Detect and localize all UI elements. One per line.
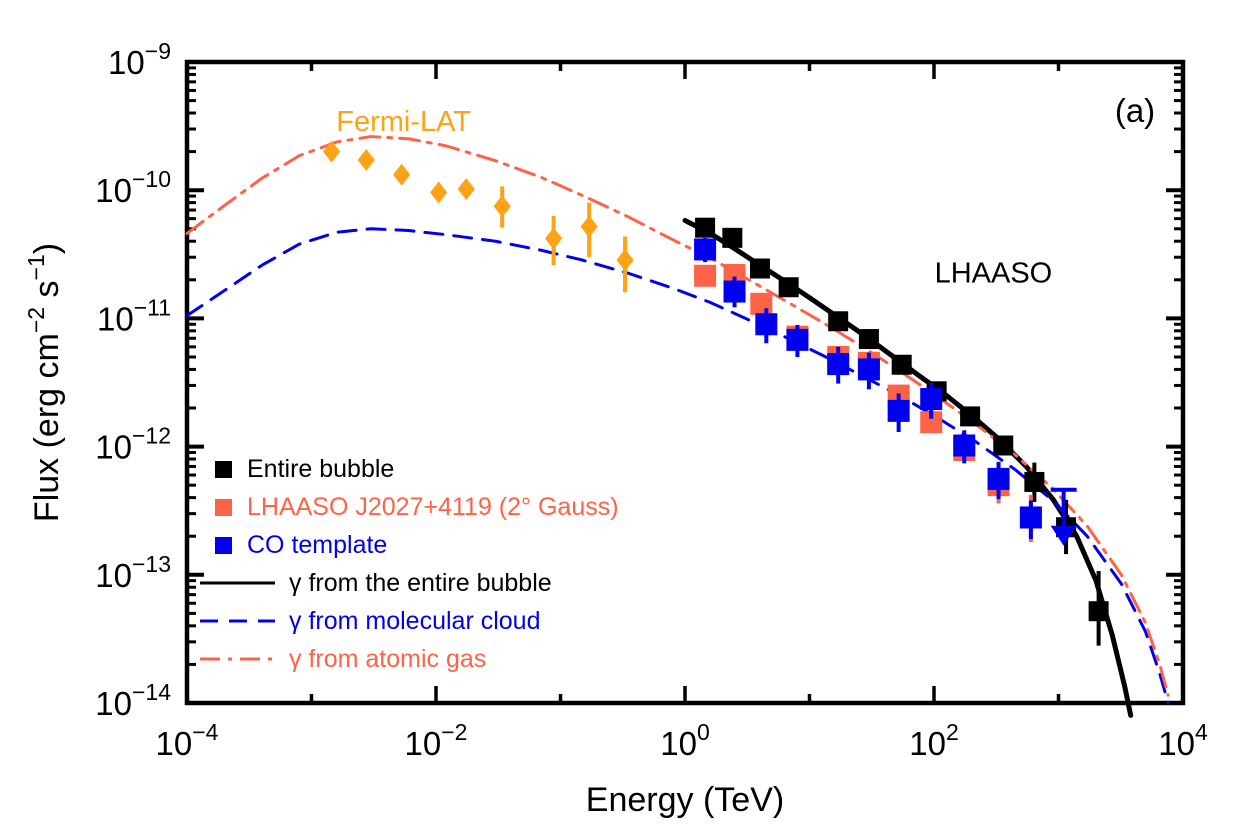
data-point-diamond bbox=[616, 249, 633, 271]
legend-label: γ from atomic gas bbox=[289, 645, 486, 673]
data-point-diamond bbox=[494, 195, 511, 217]
sed-figure: 10−410−210010210410−910−1010−1110−1210−1… bbox=[0, 0, 1240, 825]
data-point-square bbox=[750, 293, 772, 315]
data-point-square bbox=[1024, 472, 1044, 492]
data-point-square bbox=[828, 311, 848, 331]
data-point-diamond bbox=[430, 181, 447, 203]
data-point-square bbox=[779, 277, 799, 297]
data-point-square bbox=[888, 400, 910, 422]
annotation-1: LHAASO bbox=[935, 258, 1053, 290]
legend-label: γ from molecular cloud bbox=[289, 607, 540, 635]
data-point-square bbox=[827, 353, 849, 375]
data-point-square bbox=[892, 355, 912, 375]
data-point-square bbox=[694, 238, 716, 260]
legend-item-5[interactable]: γ from atomic gas bbox=[200, 645, 486, 673]
legend-label: Entire bubble bbox=[247, 455, 394, 483]
data-point-square bbox=[859, 329, 879, 349]
legend-item-4[interactable]: γ from molecular cloud bbox=[200, 607, 540, 635]
data-point-square bbox=[694, 265, 716, 287]
legend-item-3[interactable]: γ from the entire bubble bbox=[200, 569, 552, 597]
data-point-diamond bbox=[323, 141, 340, 163]
panel-label: (a) bbox=[1115, 92, 1155, 129]
legend-label: γ from the entire bubble bbox=[289, 569, 552, 597]
data-point-diamond bbox=[358, 149, 375, 171]
x-tick-label: 102 bbox=[909, 719, 959, 762]
legend-marker bbox=[215, 537, 232, 554]
data-point-square bbox=[920, 388, 942, 410]
annotation-0: Fermi-LAT bbox=[336, 106, 471, 138]
data-point-diamond bbox=[545, 227, 562, 249]
legend-marker bbox=[215, 461, 232, 478]
data-point-square bbox=[786, 329, 808, 351]
data-point-square bbox=[953, 434, 975, 456]
y-tick-label: 10−13 bbox=[95, 551, 171, 594]
chart-canvas: 10−410−210010210410−910−1010−1110−1210−1… bbox=[0, 0, 1240, 825]
legend-item-1[interactable]: LHAASO J2027+4119 (2° Gauss) bbox=[215, 493, 619, 521]
data-point-square bbox=[695, 218, 715, 238]
x-axis-title: Energy (TeV) bbox=[586, 781, 784, 819]
data-point-diamond bbox=[581, 216, 598, 238]
x-tick-label: 10−4 bbox=[156, 719, 219, 762]
legend-label: LHAASO J2027+4119 (2° Gauss) bbox=[247, 493, 619, 521]
data-point-square bbox=[1020, 506, 1042, 528]
legend-item-0[interactable]: Entire bubble bbox=[215, 455, 394, 483]
data-point-diamond bbox=[458, 178, 475, 200]
y-tick-label: 10−11 bbox=[97, 294, 171, 337]
series-0 bbox=[323, 141, 634, 293]
y-tick-label: 10−9 bbox=[108, 38, 171, 81]
data-point-diamond bbox=[393, 164, 410, 186]
data-point-square bbox=[960, 406, 980, 426]
y-tick-label: 10−10 bbox=[95, 166, 171, 209]
data-point-square bbox=[724, 281, 746, 303]
data-point-square bbox=[755, 313, 777, 335]
x-tick-label: 100 bbox=[660, 719, 710, 762]
legend-label: CO template bbox=[247, 531, 387, 559]
data-point-square bbox=[988, 468, 1010, 490]
legend-item-2[interactable]: CO template bbox=[215, 531, 387, 559]
legend-marker bbox=[215, 499, 232, 516]
data-point-square bbox=[722, 228, 742, 248]
data-point-square bbox=[993, 435, 1013, 455]
data-point-square bbox=[858, 358, 880, 380]
series-2 bbox=[694, 264, 1042, 542]
y-tick-label: 10−12 bbox=[95, 423, 171, 466]
data-point-square bbox=[750, 259, 770, 279]
x-tick-label: 104 bbox=[1158, 719, 1208, 762]
x-tick-label: 10−2 bbox=[405, 719, 468, 762]
y-tick-label: 10−14 bbox=[95, 679, 171, 722]
data-point-square bbox=[1089, 601, 1109, 621]
y-axis-title: Flux (erg cm−2 s−1) bbox=[23, 243, 66, 522]
